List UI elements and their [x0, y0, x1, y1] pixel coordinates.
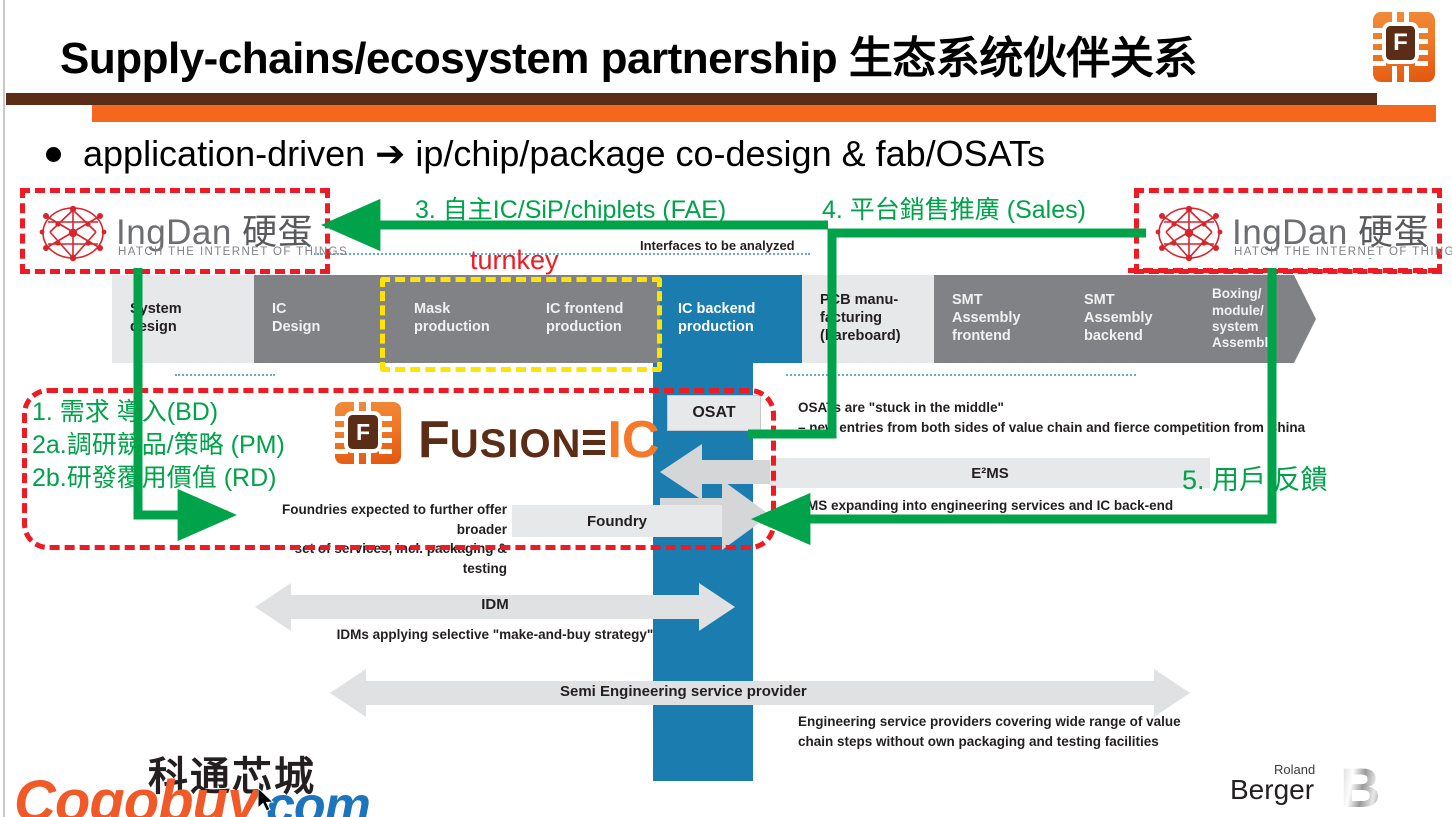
cogobuy-logo: 科通芯城 Cogobuy com [14, 748, 414, 814]
title-underline-dark [6, 93, 1377, 105]
fusionic-chip-logo-header: F [1366, 6, 1442, 88]
chip-pin-icon [1415, 50, 1428, 55]
chevron-label: Boxing/module/systemAssembly [1212, 286, 1276, 352]
label-step2b: 2b.研發覆用價值 (RD) [32, 458, 276, 494]
cogobuy-wordmark: Cogobuy [14, 768, 258, 817]
chevron-boxing-module-system-assembly: Boxing/module/systemAssembly [1194, 275, 1316, 363]
chevron-label: SMTAssemblybackend [1084, 292, 1153, 345]
e2ms-bar: E²MS [770, 458, 1210, 488]
chevron-label: ICDesign [272, 301, 320, 336]
chevron-label: PCB manu‑facturing(bareboard) [820, 292, 901, 345]
mouse-cursor-icon [258, 788, 280, 816]
chip-pin-icon [1415, 39, 1428, 44]
chip-pin-icon [1373, 61, 1386, 66]
label-step4: 4. 平台銷售推廣 (Sales) [822, 190, 1086, 226]
chip-pin-icon [1404, 66, 1409, 82]
ingdan-logo-left: IngDan 硬蛋 HATCH THE INTERNET OF THINGS [30, 196, 314, 258]
turnkey-label: turnkey [470, 245, 559, 276]
ingdan-logo-right: IngDan 硬蛋 HATCH THE INTERNET OF THINGS [1146, 196, 1430, 258]
chip-pin-icon [1415, 28, 1428, 33]
osat-note-2: – new entries from both sides of value c… [798, 418, 1305, 438]
bullet-dot-icon [46, 147, 61, 162]
chip-pin-icon [1373, 39, 1386, 44]
label-step3: 3. 自主IC/SiP/chiplets (FAE) [415, 190, 726, 226]
turnkey-highlight-box [380, 277, 662, 372]
network-icon [36, 202, 110, 264]
semi-engineering-label: Semi Engineering service provider [560, 683, 807, 700]
chip-pin-icon [1415, 61, 1428, 66]
semi-engineering-note: Engineering service providers covering w… [798, 712, 1198, 751]
chip-pin-icon [1373, 28, 1386, 33]
label-step1: 1. 需求 導入(BD) [32, 392, 218, 428]
title-row: Supply-chains/ecosystem partnership 生态系统… [0, 8, 1452, 94]
roland-berger-mark: B [1340, 760, 1380, 816]
page-title-en: Supply-chains/ecosystem partnership [60, 34, 837, 83]
roland-berger-berger: Berger [1230, 774, 1314, 806]
page-title: Supply-chains/ecosystem partnership 生态系统… [60, 22, 1197, 86]
chip-pin-icon [1392, 66, 1397, 82]
roland-berger-logo: Roland Berger B [1230, 762, 1380, 812]
chip-letter-f: F [1386, 26, 1415, 60]
idm-note: IDMs applying selective "make-and-buy st… [255, 625, 735, 645]
network-icon [1152, 202, 1226, 264]
label-step2a: 2a.調研競品/策略 (PM) [32, 425, 285, 461]
chip-pin-icon [1373, 50, 1386, 55]
ingdan-tagline: HATCH THE INTERNET OF THINGS [1234, 246, 1452, 258]
chevron-label: IC backendproduction [678, 301, 755, 336]
ingdan-tagline: HATCH THE INTERNET OF THINGS [118, 246, 348, 258]
interface-dotline-right [786, 374, 1136, 376]
label-step5: 5. 用戶 反饋 [1182, 458, 1328, 497]
left-border-rule [3, 0, 5, 817]
osat-note-1: OSATs are "stuck in the middle" [798, 398, 1004, 418]
bullet-row: application-driven ➔ ip/chip/package co-… [46, 128, 1376, 180]
idm-label: IDM [255, 596, 735, 613]
page-title-cn: 生态系统伙伴关系 [849, 34, 1197, 83]
chevron-label: SMTAssemblyfrontend [952, 292, 1021, 345]
cogobuy-com: com [266, 776, 370, 817]
bullet-text: application-driven ➔ ip/chip/package co-… [83, 133, 1045, 175]
chevron-label: Systemdesign [130, 301, 182, 336]
e2ms-note: EMS expanding into engineering services … [798, 496, 1173, 516]
title-underline-orange [92, 105, 1436, 122]
interface-dotline-left [175, 374, 275, 376]
slide-root: Supply-chains/ecosystem partnership 生态系统… [0, 0, 1452, 817]
right-chevron-dash-line [1128, 268, 1438, 273]
